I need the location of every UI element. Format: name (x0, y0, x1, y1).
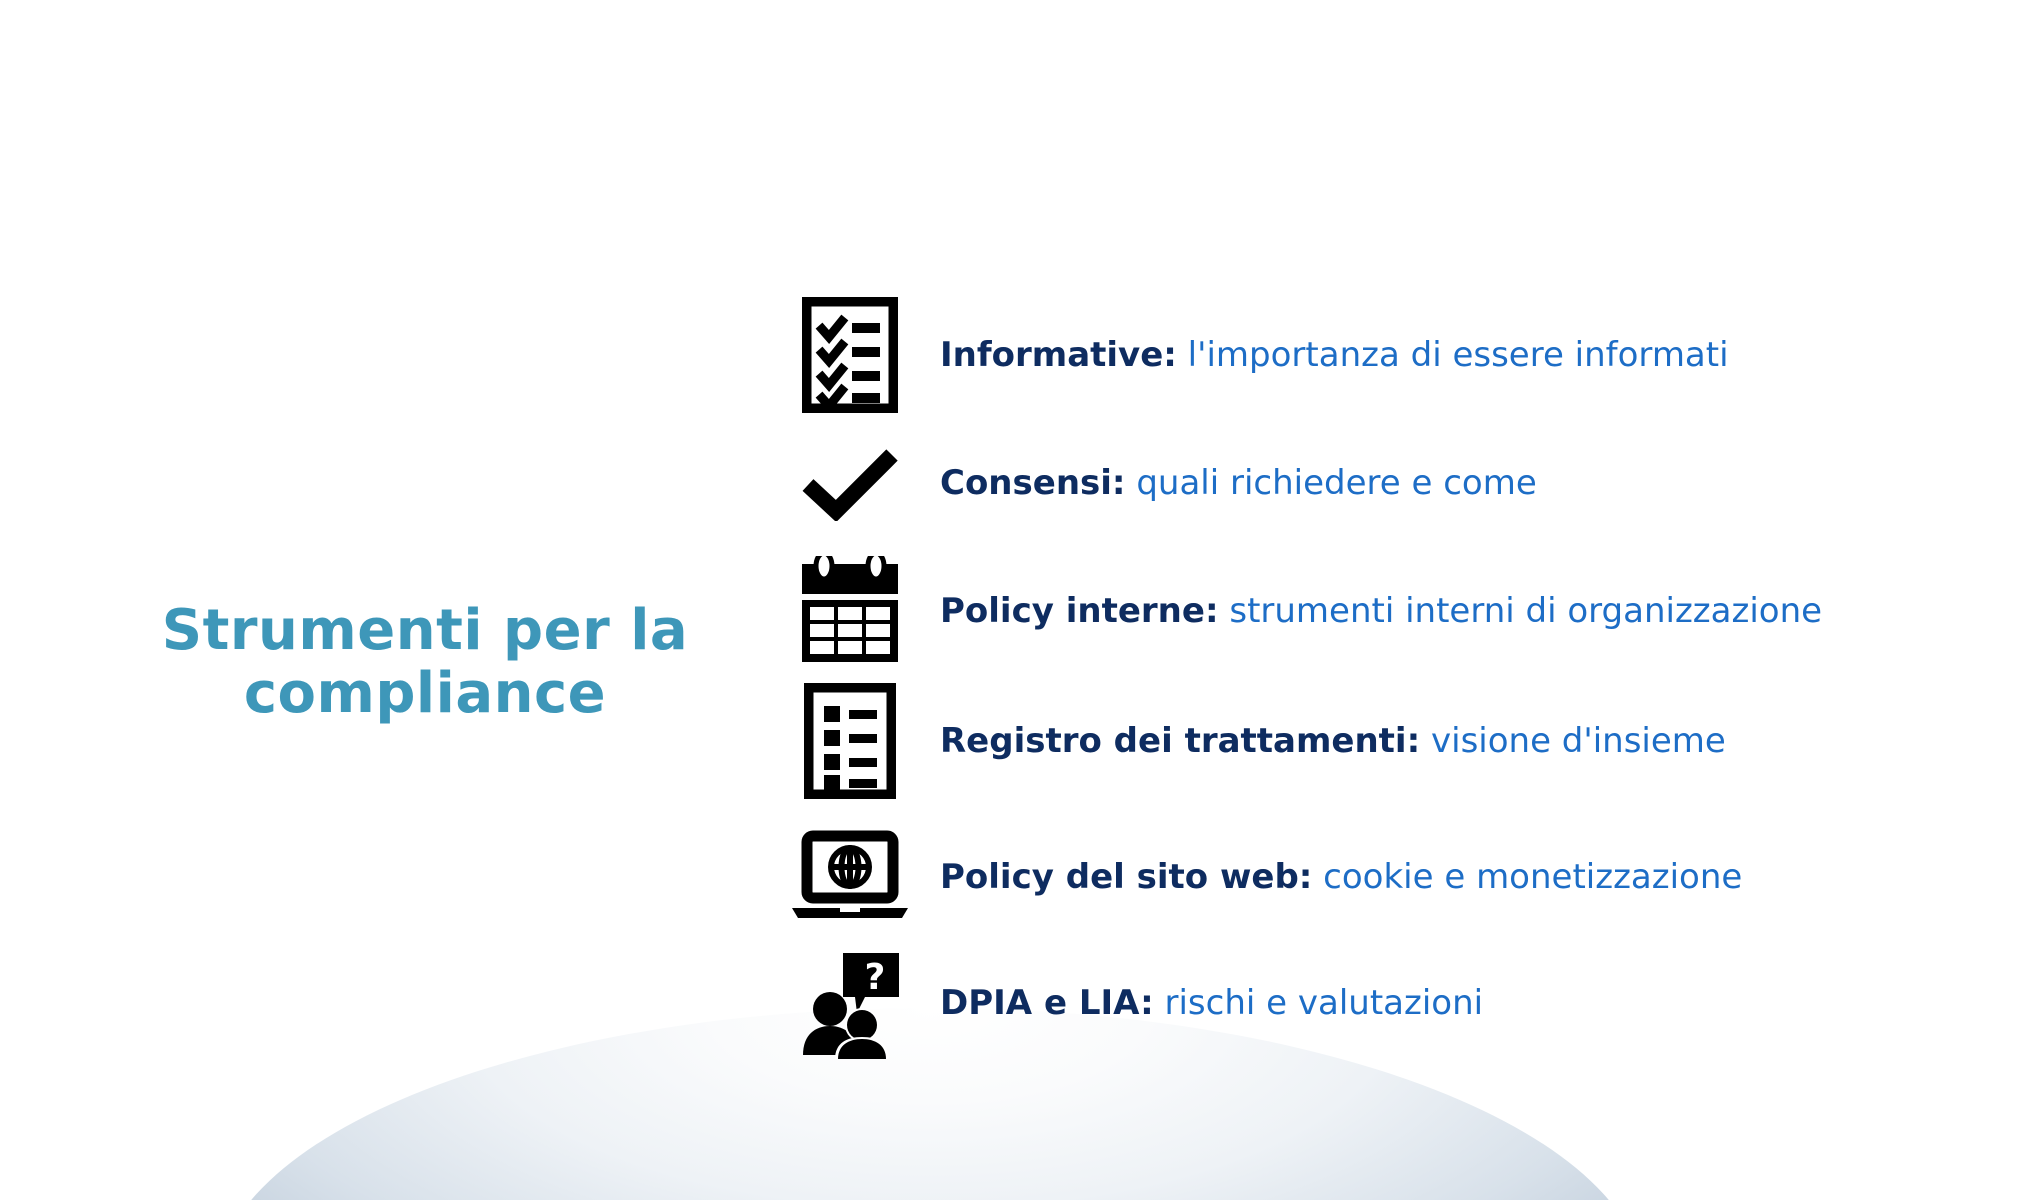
list-item-text: Registro dei trattamenti: visione d'insi… (940, 721, 1726, 762)
calendar-icon (760, 556, 940, 666)
list-item[interactable]: ? DPIA e LIA: rischi e valutazioni (760, 938, 1483, 1068)
list-item-rest: rischi e valutazioni (1154, 983, 1483, 1023)
list-item-rest: strumenti interni di organizzazione (1219, 591, 1823, 631)
list-item-lead: Policy interne: (940, 591, 1219, 631)
list-item-lead: Policy del sito web: (940, 857, 1312, 897)
list-item-text: Informative: l'importanza di essere info… (940, 335, 1729, 376)
list-item-rest: cookie e monetizzazione (1312, 857, 1742, 897)
list-item[interactable]: Policy interne: strumenti interni di org… (760, 546, 1822, 676)
list-item[interactable]: Informative: l'importanza di essere info… (760, 290, 1729, 420)
list-item-rest: l'importanza di essere informati (1177, 335, 1729, 375)
list-item[interactable]: Policy del sito web: cookie e monetizzaz… (760, 812, 1742, 942)
list-item-rest: quali richiedere e come (1126, 463, 1537, 503)
list-item-lead: DPIA e LIA: (940, 983, 1154, 1023)
slide-canvas: Strumenti per la compliance (0, 0, 2040, 1200)
list-item[interactable]: Registro dei trattamenti: visione d'insi… (760, 676, 1726, 806)
page-title: Strumenti per la compliance (130, 600, 720, 725)
list-item-rest: visione d'insieme (1420, 721, 1726, 761)
list-item-lead: Consensi: (940, 463, 1126, 503)
list-item-lead: Registro dei trattamenti: (940, 721, 1420, 761)
list-item-text: Policy del sito web: cookie e monetizzaz… (940, 857, 1742, 898)
page-title-line-1: Strumenti per la (130, 600, 720, 663)
list-item-lead: Informative: (940, 335, 1177, 375)
checklist-icon (760, 297, 940, 413)
list-item-text: Consensi: quali richiedere e come (940, 463, 1537, 504)
people-question-icon: ? (760, 947, 940, 1059)
laptop-globe-icon (760, 830, 940, 924)
svg-text:?: ? (865, 957, 886, 998)
list-item-text: Policy interne: strumenti interni di org… (940, 591, 1822, 632)
list-item-text: DPIA e LIA: rischi e valutazioni (940, 983, 1483, 1024)
list-document-icon (760, 683, 940, 799)
page-title-line-2: compliance (130, 663, 720, 726)
list-item[interactable]: Consensi: quali richiedere e come (760, 418, 1537, 548)
checkmark-icon (760, 445, 940, 521)
